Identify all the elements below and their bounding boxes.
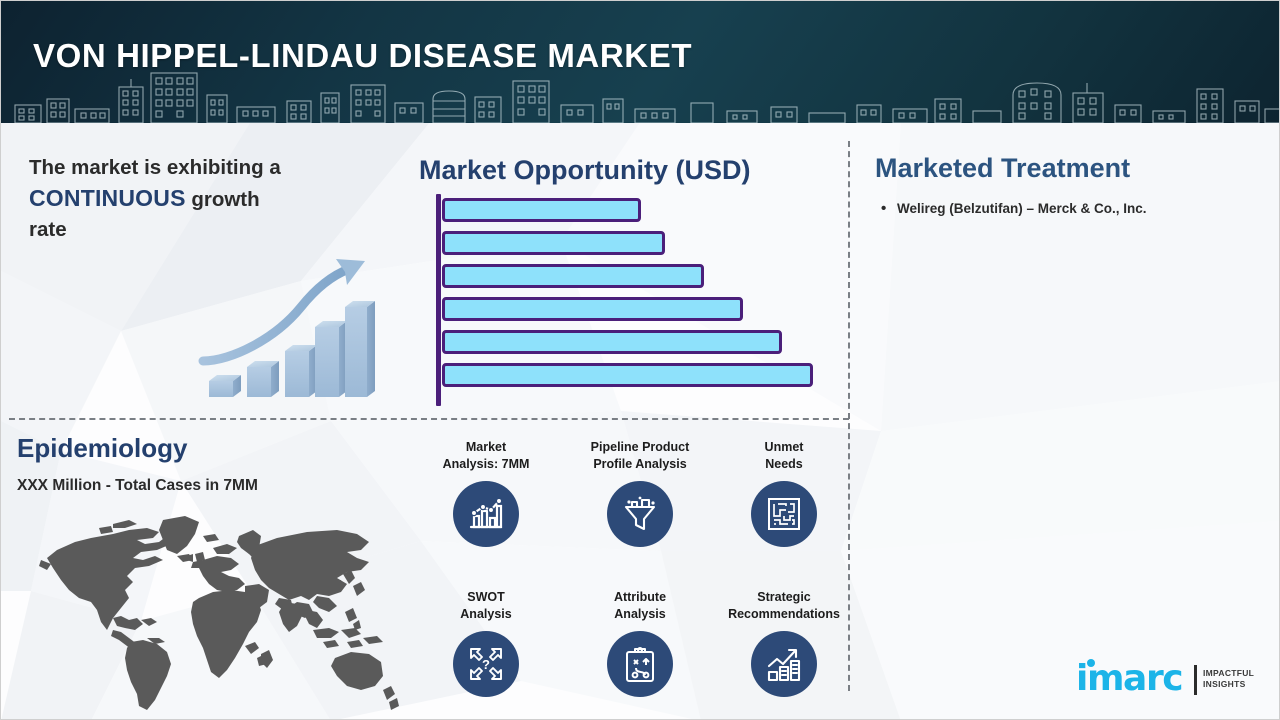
grid-label-line1: Pipeline Product bbox=[591, 439, 690, 456]
epidemiology-subtitle: XXX Million - Total Cases in 7MM bbox=[17, 477, 258, 495]
marketed-treatment-title: Marketed Treatment bbox=[875, 153, 1130, 184]
chart-bar bbox=[442, 297, 743, 321]
clipboard-strategy-icon bbox=[607, 631, 673, 697]
page-title: VON HIPPEL-LINDAU DISEASE MARKET bbox=[33, 37, 692, 75]
lead-statement: The market is exhibiting a CONTINUOUS gr… bbox=[29, 153, 379, 244]
funnel-icon bbox=[607, 481, 673, 547]
grid-label-line2: Needs bbox=[765, 456, 803, 473]
logo-dot-icon bbox=[1087, 659, 1095, 667]
analysis-icon-grid: Market Analysis: 7MM bbox=[413, 439, 849, 711]
slide-header: VON HIPPEL-LINDAU DISEASE MARKET bbox=[1, 1, 1280, 123]
market-opportunity-title: Market Opportunity (USD) bbox=[419, 155, 751, 186]
swot-arrows-question-icon: ? bbox=[453, 631, 519, 697]
lead-highlight: CONTINUOUS bbox=[29, 185, 186, 211]
world-map-icon bbox=[17, 506, 407, 716]
slide-canvas: VON HIPPEL-LINDAU DISEASE MARKET The mar… bbox=[0, 0, 1280, 720]
grid-cell-unmet-needs[interactable]: Unmet Needs bbox=[711, 439, 857, 547]
logo-tagline-line1: IMPACTFUL bbox=[1203, 668, 1254, 679]
market-opportunity-chart bbox=[436, 194, 836, 406]
chart-bar bbox=[442, 264, 704, 288]
marketed-treatment-list: Welireg (Belzutifan) – Merck & Co., Inc. bbox=[879, 199, 1249, 219]
grid-cell-strategic-recommendations[interactable]: Strategic Recommendations bbox=[711, 589, 857, 697]
growth-bar-chart-arrow-icon bbox=[197, 253, 387, 408]
chart-y-axis bbox=[436, 194, 441, 406]
lead-line-2-rest: growth bbox=[186, 188, 260, 211]
grid-cell-pipeline-product[interactable]: Pipeline Product Profile Analysis bbox=[567, 439, 713, 547]
chart-bar bbox=[442, 330, 782, 354]
grid-cell-attribute-analysis[interactable]: Attribute Analysis bbox=[567, 589, 713, 697]
grid-cell-swot-analysis[interactable]: SWOT Analysis ? bbox=[413, 589, 559, 697]
grid-label-line2: Profile Analysis bbox=[593, 456, 686, 473]
logo-tagline-line2: INSIGHTS bbox=[1203, 679, 1254, 690]
grid-label-line1: Unmet bbox=[765, 439, 804, 456]
grid-label-line1: Attribute bbox=[614, 589, 666, 606]
grid-label-line2: Analysis bbox=[460, 606, 511, 623]
grid-cell-market-analysis[interactable]: Market Analysis: 7MM bbox=[413, 439, 559, 547]
growth-arrow-bars-icon bbox=[751, 631, 817, 697]
grid-label-line2: Analysis bbox=[614, 606, 665, 623]
grid-label-line1: Market bbox=[466, 439, 506, 456]
grid-label-line1: SWOT bbox=[467, 589, 505, 606]
svg-text:?: ? bbox=[482, 657, 490, 672]
maze-icon bbox=[751, 481, 817, 547]
imarc-logo[interactable]: imarc IMPACTFUL INSIGHTS bbox=[1076, 661, 1266, 705]
lead-line-3: rate bbox=[29, 218, 67, 241]
logo-tagline: IMPACTFUL INSIGHTS bbox=[1203, 668, 1254, 690]
grid-label-line1: Strategic bbox=[757, 589, 811, 606]
horizontal-divider bbox=[9, 418, 849, 420]
bar-chart-trend-icon bbox=[453, 481, 519, 547]
chart-bar bbox=[442, 363, 813, 387]
grid-label-line2: Analysis: 7MM bbox=[443, 456, 530, 473]
chart-bar bbox=[442, 231, 665, 255]
chart-bar bbox=[442, 198, 641, 222]
grid-label-line2: Recommendations bbox=[728, 606, 840, 623]
lead-line-1: The market is exhibiting a bbox=[29, 156, 281, 179]
epidemiology-title: Epidemiology bbox=[17, 433, 187, 464]
logo-divider bbox=[1194, 665, 1197, 695]
list-item: Welireg (Belzutifan) – Merck & Co., Inc. bbox=[879, 199, 1249, 219]
